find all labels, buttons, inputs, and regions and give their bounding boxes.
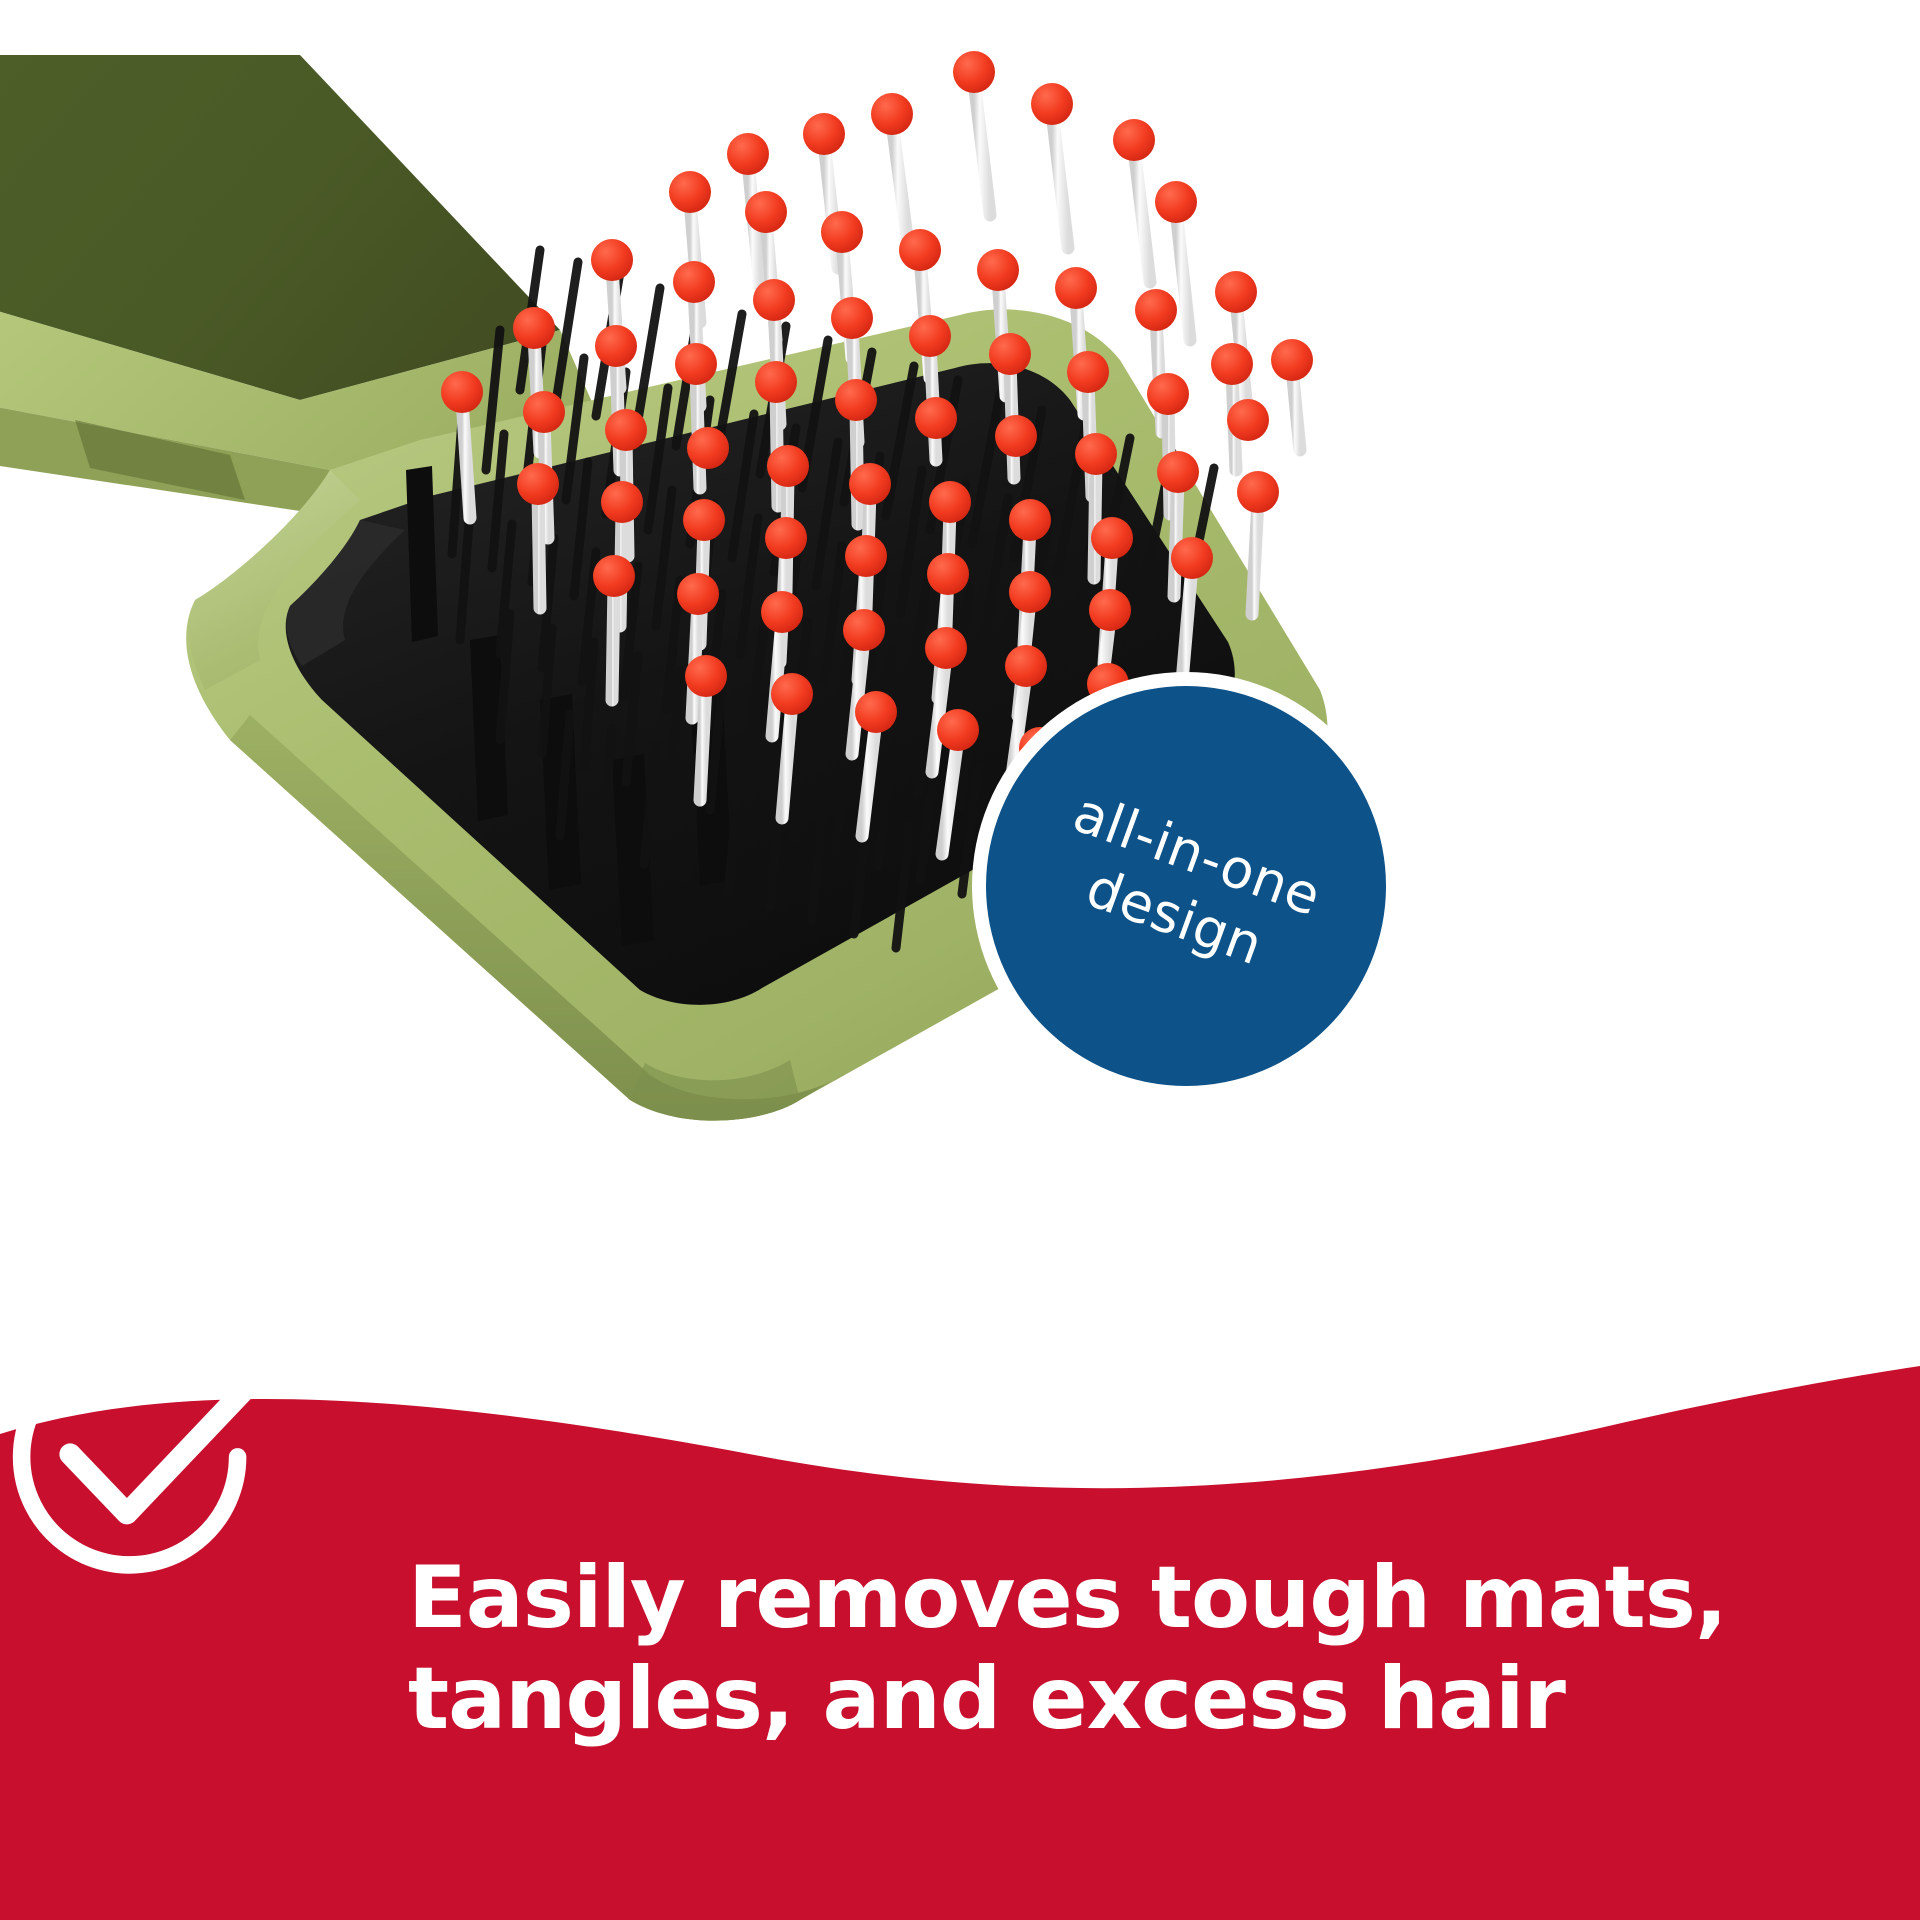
all-in-one-badge: all-in-one design	[986, 686, 1386, 1086]
badge-text: all-in-one design	[1042, 780, 1329, 992]
product-feature-card: all-in-one design Easily removes tough m…	[0, 0, 1920, 1920]
banner-line-1: Easily removes tough mats,	[408, 1548, 1828, 1649]
banner-copy: Easily removes tough mats, tangles, and …	[408, 1548, 1828, 1751]
feature-banner: Easily removes tough mats, tangles, and …	[0, 1330, 1920, 1920]
check-circle-icon	[0, 1330, 270, 1600]
product-photo	[0, 0, 1920, 1460]
banner-line-2: tangles, and excess hair	[408, 1649, 1828, 1750]
